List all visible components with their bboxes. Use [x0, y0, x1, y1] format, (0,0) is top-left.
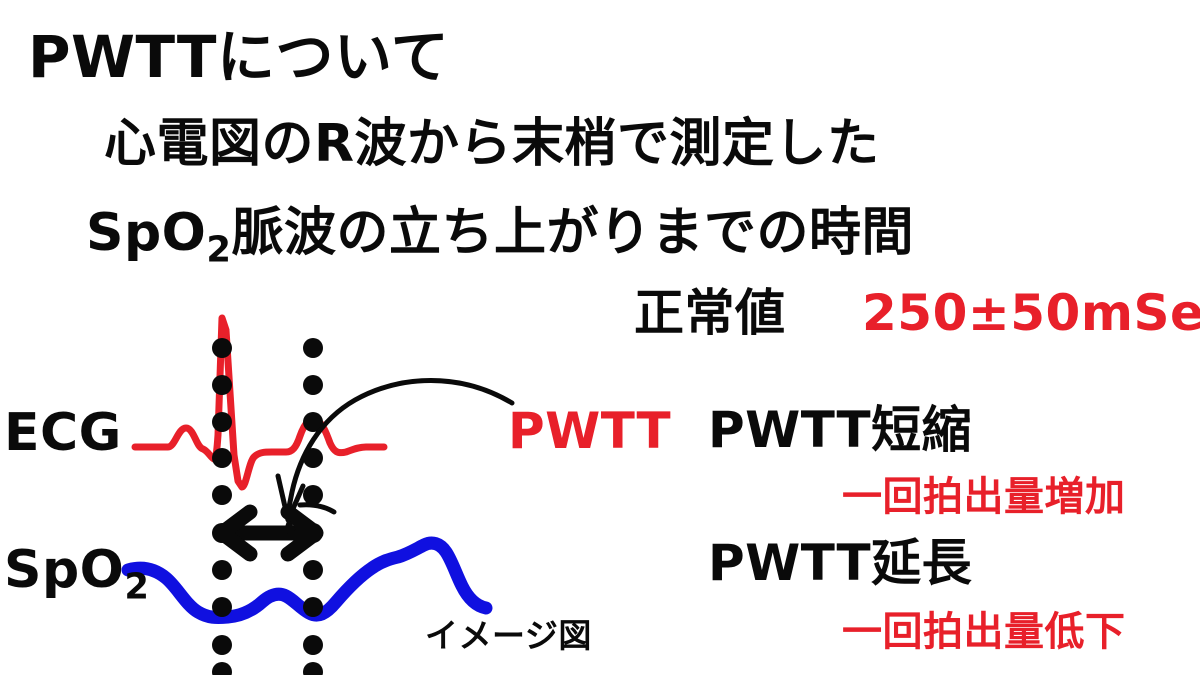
description-line-2: SpO2脈波の立ち上がりまでの時間	[86, 207, 914, 268]
page-title: PWTTについて	[28, 28, 449, 86]
slide-canvas: PWTTについて 心電図のR波から末梢で測定した SpO2脈波の立ち上がりまでの…	[0, 0, 1200, 675]
image-caption: イメージ図	[425, 619, 592, 652]
ecg-label: ECG	[4, 407, 122, 459]
description-line-2-rest: 脈波の立ち上がりまでの時間	[232, 203, 915, 263]
spo2-label-subscript: 2	[124, 566, 149, 607]
description-line-1: 心電図のR波から末梢で測定した	[104, 118, 880, 170]
conclusion-result-lengthening: 一回拍出量低下	[842, 612, 1126, 652]
ecg-waveform-path	[135, 318, 384, 487]
marker-line-left	[212, 338, 232, 675]
normal-value-label: 正常値	[634, 288, 786, 338]
spo2-label: SpO2	[4, 544, 150, 605]
conclusion-result-shortening: 一回拍出量増加	[842, 477, 1126, 517]
spo2-label-text: SpO	[4, 540, 124, 600]
spo2-subscript: 2	[206, 229, 231, 270]
pwtt-callout-arrow	[278, 381, 512, 537]
normal-value-number: 250±50mSec	[862, 288, 1200, 338]
marker-line-right	[303, 338, 323, 675]
pwtt-callout-label: PWTT	[508, 406, 671, 456]
conclusion-title-shortening: PWTT短縮	[708, 405, 972, 455]
pwtt-measure-arrow	[222, 512, 316, 554]
spo2-text: SpO	[86, 203, 206, 263]
conclusion-title-lengthening: PWTT延長	[708, 538, 972, 588]
spo2-waveform-path	[128, 543, 486, 617]
